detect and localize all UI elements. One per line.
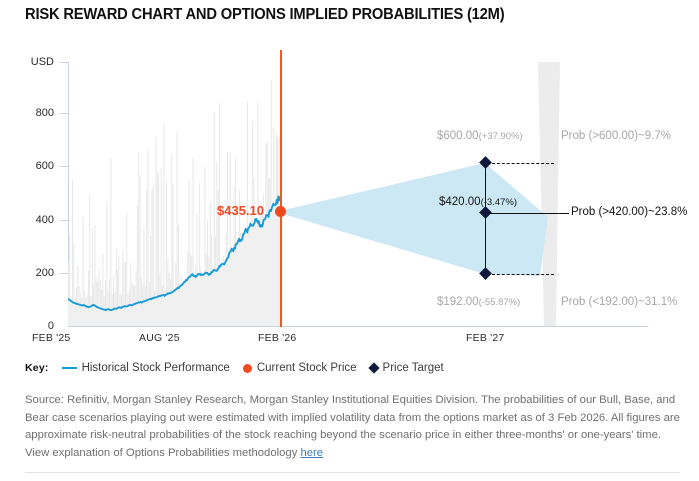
x-axis-line <box>68 326 648 327</box>
bear-target-dashed-line <box>487 274 554 275</box>
legend-item-price-target[interactable]: Price Target <box>370 362 444 374</box>
x-tick-label-feb25: FEB '25 <box>32 332 70 344</box>
y-tick-200 <box>60 273 68 274</box>
bull-target-price: $600.00 <box>437 130 479 142</box>
x-tick-label-feb26: FEB '26 <box>258 332 296 344</box>
base-target-label: $420.00(-3.47%) <box>439 196 517 208</box>
y-axis-unit-label: USD <box>8 56 54 68</box>
legend-label-historical: Historical Stock Performance <box>82 362 230 374</box>
bull-target-dashed-line <box>487 163 554 164</box>
x-tick-label-aug25: AUG '25 <box>139 332 180 344</box>
base-target-change: (-3.47%) <box>481 197 517 208</box>
bull-probability-label: Prob (>600.00)~9.7% <box>561 130 671 142</box>
methodology-link[interactable]: here <box>300 447 323 459</box>
target-range-connector <box>485 163 486 274</box>
current-stock-price-label: $435.10 <box>217 203 264 218</box>
legend-item-current-price[interactable]: Current Stock Price <box>243 362 357 374</box>
current-date-vertical-line <box>280 50 282 327</box>
source-text: Source: Refinitiv, Morgan Stanley Resear… <box>25 394 680 459</box>
footer-divider <box>25 472 680 473</box>
bear-target-change: (-55.87%) <box>479 297 521 308</box>
bull-target-change: (+37.90%) <box>479 131 523 142</box>
y-tick-400 <box>60 220 68 221</box>
diamond-marker-icon <box>368 362 379 373</box>
bear-target-label: $192.00(-55.87%) <box>437 296 520 308</box>
y-tick-800 <box>60 113 68 114</box>
bear-target-price: $192.00 <box>437 296 479 308</box>
forecast-cone <box>68 62 648 326</box>
legend-item-historical[interactable]: Historical Stock Performance <box>62 362 230 374</box>
bear-probability-label: Prob (<192.00)~31.1% <box>561 296 677 308</box>
source-note: Source: Refinitiv, Morgan Stanley Resear… <box>25 392 680 462</box>
y-tick-label-400: 400 <box>8 214 54 226</box>
y-tick-label-200: 200 <box>8 267 54 279</box>
chart-legend: Key: Historical Stock Performance Curren… <box>25 362 444 374</box>
x-tick-label-feb27: FEB '27 <box>466 332 504 344</box>
base-probability-label: Prob (>420.00)~23.8% <box>571 206 687 218</box>
bull-target-label: $600.00(+37.90%) <box>437 130 523 142</box>
y-tick-label-600: 600 <box>8 160 54 172</box>
legend-label-price-target: Price Target <box>383 362 444 374</box>
base-target-price: $420.00 <box>439 196 481 208</box>
line-marker-icon <box>62 367 77 370</box>
chart-plot-area <box>68 62 648 326</box>
circle-marker-icon <box>243 364 252 373</box>
y-tick-label-800: 800 <box>8 107 54 119</box>
current-stock-price-dot <box>275 206 286 217</box>
y-tick-label-0: 0 <box>8 320 54 332</box>
y-tick-600 <box>60 166 68 167</box>
y-tick-unit <box>60 62 68 63</box>
legend-label-current-price: Current Stock Price <box>257 362 357 374</box>
legend-title: Key: <box>25 362 49 374</box>
page-title: RISK REWARD CHART AND OPTIONS IMPLIED PR… <box>25 6 504 24</box>
base-target-solid-line <box>487 213 569 214</box>
